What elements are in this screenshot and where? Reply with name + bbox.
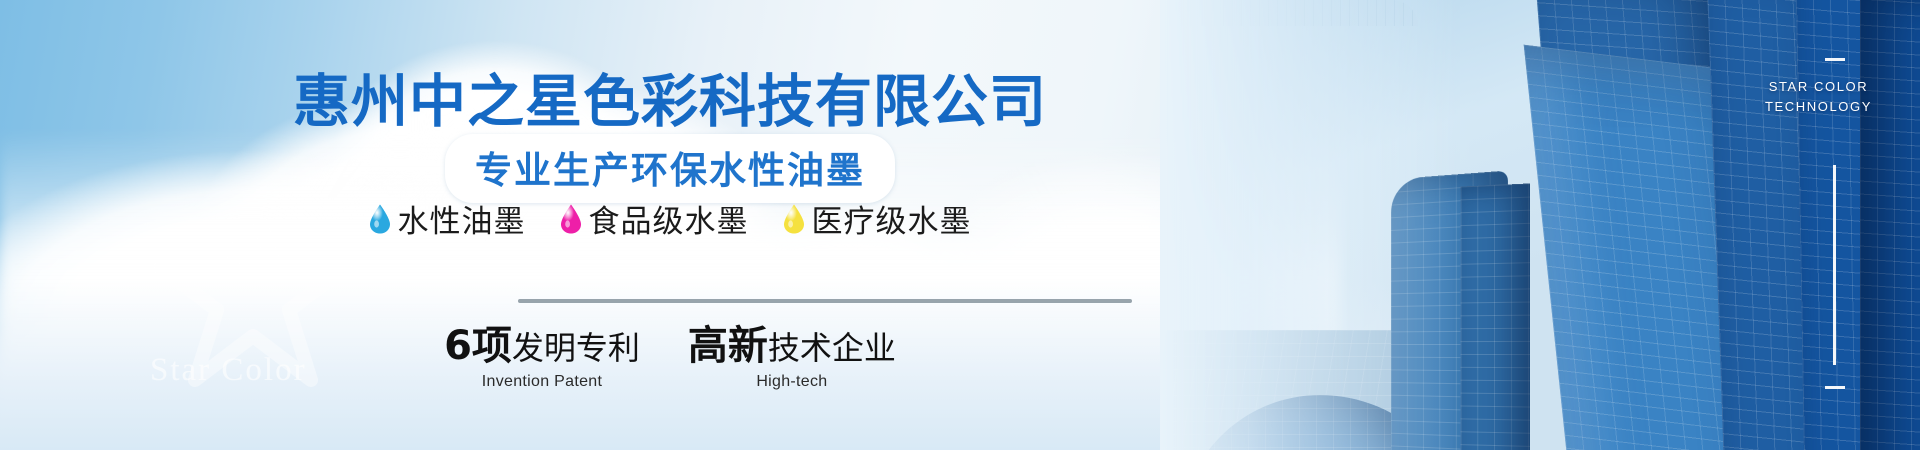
badge-subtext: 技术企业 bbox=[768, 329, 896, 367]
logo-line-1: STAR COLOR bbox=[1765, 77, 1872, 97]
logo-rule-vertical bbox=[1833, 165, 1836, 365]
company-title: 惠州中之星色彩科技有限公司 bbox=[0, 56, 1340, 138]
feature-item: 水性油墨 bbox=[369, 196, 526, 241]
water-drop-icon bbox=[560, 204, 582, 234]
feature-label: 食品级水墨 bbox=[589, 196, 749, 241]
badge-item: 高新技术企业High-tech bbox=[688, 326, 896, 391]
badge-item: 6项发明专利Invention Patent bbox=[444, 326, 640, 391]
star-color-technology-logo: STAR COLOR TECHNOLOGY bbox=[1765, 77, 1872, 117]
badge-chinese-label: 6项发明专利 bbox=[444, 326, 640, 366]
badge-highlight: 高新 bbox=[688, 323, 768, 369]
logo-line-2: TECHNOLOGY bbox=[1765, 97, 1872, 117]
building-mid-secondary bbox=[1461, 183, 1530, 450]
building-right-edge bbox=[1860, 0, 1920, 450]
badge-subtext: 发明专利 bbox=[512, 329, 640, 367]
feature-item: 医疗级水墨 bbox=[783, 196, 972, 241]
water-drop-icon bbox=[369, 204, 391, 234]
badge-list: 6项发明专利Invention Patent高新技术企业High-tech bbox=[0, 326, 1340, 391]
feature-list: 水性油墨食品级水墨医疗级水墨 bbox=[0, 196, 1340, 241]
promo-banner: Star Color STAR COLOR TECHNOLOGY 惠州中之星色彩… bbox=[0, 0, 1920, 450]
feature-label: 水性油墨 bbox=[398, 196, 526, 241]
badge-chinese-label: 高新技术企业 bbox=[688, 326, 896, 366]
section-divider bbox=[518, 299, 1132, 303]
badge-english-label: Invention Patent bbox=[444, 373, 640, 391]
badge-english-label: High-tech bbox=[688, 373, 896, 391]
feature-label: 医疗级水墨 bbox=[812, 196, 972, 241]
logo-rule-bottom bbox=[1825, 386, 1845, 389]
feature-item: 食品级水墨 bbox=[560, 196, 749, 241]
water-drop-icon bbox=[783, 204, 805, 234]
banner-content: 惠州中之星色彩科技有限公司 专业生产环保水性油墨 水性油墨食品级水墨医疗级水墨 … bbox=[0, 0, 1340, 450]
subtitle-container: 专业生产环保水性油墨 bbox=[0, 134, 1340, 203]
subtitle-pill: 专业生产环保水性油墨 bbox=[445, 134, 895, 203]
badge-highlight: 6项 bbox=[444, 323, 512, 369]
logo-rule-top bbox=[1825, 58, 1845, 61]
